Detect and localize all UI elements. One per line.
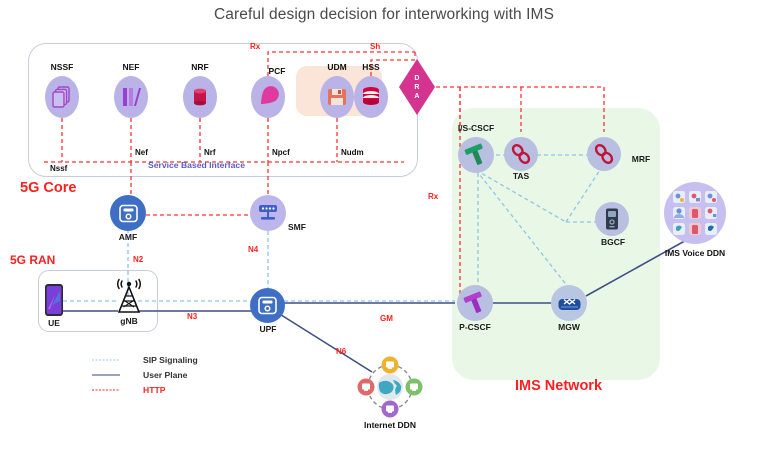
nrf-label: NRF: [170, 62, 230, 72]
globe-devices-icon: [357, 356, 423, 418]
purple-tee-icon: [463, 291, 487, 315]
p-cscf-bubble: [457, 285, 493, 321]
pcf-bubble: [251, 76, 285, 118]
voice-apps-cluster-icon: [670, 188, 720, 238]
user-plane-line-swatch: [78, 374, 134, 376]
upf-box-icon: [257, 295, 278, 316]
db-stack-icon: [360, 85, 382, 109]
smf-server-icon: [257, 203, 279, 223]
dra-label: D R A: [398, 58, 436, 116]
amf-bubble: [110, 195, 146, 231]
upf-label: UPF: [240, 324, 296, 334]
ref-label-n3: N3: [187, 312, 197, 321]
tas-label: TAS: [501, 171, 541, 181]
gateway-device-icon: [604, 207, 620, 231]
ue-label: UE: [36, 318, 72, 328]
gnb-label: gNB: [110, 316, 148, 326]
ims-voice-ddn-label: IMS Voice DDN: [652, 248, 738, 258]
floppy-disk-icon: [326, 86, 348, 108]
sip-line-swatch: [78, 359, 134, 361]
region-label-5g-core: 5G Core: [20, 180, 76, 196]
bars-icon: [120, 85, 142, 109]
router-icon: [557, 293, 582, 313]
mrf-label: MRF: [623, 154, 659, 164]
legend-row-http: HTTP: [78, 382, 198, 397]
ref-label-n6: N6: [336, 347, 346, 356]
dra-char-r: R: [414, 83, 419, 92]
region-label-ims-network: IMS Network: [515, 378, 602, 394]
page-title: Careful design decision for interworking…: [0, 6, 768, 24]
tas-bubble: [504, 137, 538, 171]
red-chain-icon: [592, 142, 616, 166]
http-line-swatch: [78, 389, 134, 391]
nrf-bubble: [183, 76, 217, 118]
mgw-bubble: [551, 285, 587, 321]
upf-bubble: [250, 288, 285, 323]
ref-label-gm: GM: [380, 314, 393, 323]
diagram-canvas: Careful design decision for interworking…: [0, 0, 768, 453]
udm-bubble: [320, 76, 354, 118]
dra-char-d: D: [414, 74, 419, 83]
i-s-cscf-bubble: [458, 137, 494, 173]
p-cscf-label: P-CSCF: [447, 322, 503, 332]
legend-label-user-plane: User Plane: [143, 370, 187, 380]
hss-bubble: [354, 76, 388, 118]
sbi-label-nssf: Nssf: [50, 164, 67, 173]
bgcf-label: BGCF: [593, 237, 633, 247]
mgw-label: MGW: [543, 322, 595, 332]
node-ue[interactable]: UE: [44, 283, 64, 322]
ref-label-rx-top: Rx: [250, 42, 260, 51]
nssf-label: NSSF: [32, 62, 92, 72]
legend-label-http: HTTP: [143, 385, 165, 395]
amf-box-icon: [118, 203, 139, 224]
legend-row-user-plane: User Plane: [78, 367, 198, 382]
bgcf-bubble: [595, 202, 629, 236]
sbi-label-nef: Nef: [135, 148, 148, 157]
pcf-label: PCF: [247, 66, 307, 76]
i-s-cscf-label: I/S-CSCF: [451, 123, 501, 133]
amf-label: AMF: [100, 232, 156, 242]
database-icon: [189, 86, 211, 108]
antenna-tower-icon: [110, 278, 148, 316]
node-gnb[interactable]: gNB: [110, 278, 148, 321]
ims-voice-ddn-bubble: [664, 182, 726, 244]
legend-row-sip: SIP Signaling: [78, 352, 198, 367]
sbi-label-nrf: Nrf: [204, 148, 216, 157]
smartphone-icon: [44, 283, 64, 317]
dra-char-a: A: [414, 92, 419, 101]
node-dra[interactable]: D R A: [398, 58, 436, 116]
sbi-label-nudm: Nudm: [341, 148, 364, 157]
stacked-pages-icon: [51, 85, 73, 109]
droplet-icon: [257, 85, 279, 109]
ref-label-sh-top: Sh: [370, 42, 380, 51]
sbi-label-npcf: Npcf: [272, 148, 290, 157]
nssf-bubble: [45, 76, 79, 118]
red-chain-icon: [509, 142, 533, 166]
region-label-5g-ran: 5G RAN: [10, 253, 55, 267]
nef-bubble: [114, 76, 148, 118]
internet-ddn-label: Internet DDN: [345, 420, 435, 430]
legend: SIP Signaling User Plane HTTP: [78, 352, 198, 397]
legend-label-sip: SIP Signaling: [143, 355, 198, 365]
ref-label-n2: N2: [133, 255, 143, 264]
smf-label: SMF: [274, 222, 320, 232]
nef-label: NEF: [101, 62, 161, 72]
hss-label: HSS: [341, 62, 401, 72]
ref-label-rx-side: Rx: [428, 192, 438, 201]
mrf-bubble: [587, 137, 621, 171]
node-internet-ddn[interactable]: Internet DDN: [357, 356, 423, 423]
service-based-interface-label: Service Based Interface: [148, 160, 245, 170]
ref-label-n4: N4: [248, 245, 258, 254]
green-tee-icon: [464, 143, 488, 167]
